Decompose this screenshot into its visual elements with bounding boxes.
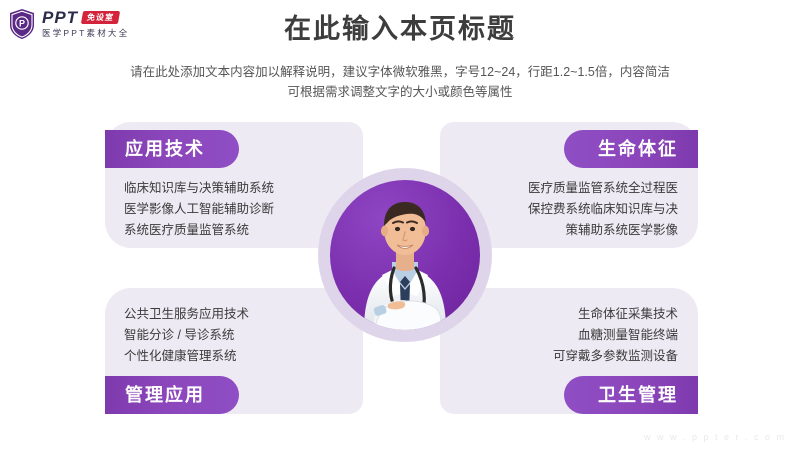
center-image-circle [330, 180, 480, 330]
text-line: 生命体征采集技术 [553, 304, 678, 325]
text-line: 血糖测量智能终端 [553, 325, 678, 346]
text-line: 医疗质量监管系统全过程医 [528, 178, 678, 199]
text-line: 临床知识库与决策辅助系统 [124, 178, 274, 199]
text-line: 可穿戴多参数监测设备 [553, 346, 678, 367]
text-line: 策辅助系统医学影像 [528, 220, 678, 241]
text-line: 医学影像人工智能辅助诊断 [124, 199, 274, 220]
badge-bottom-left[interactable]: 管理应用 [105, 376, 239, 414]
page-title: 在此输入本页标题 [0, 12, 800, 46]
text-line: 系统医疗质量监管系统 [124, 220, 274, 241]
text-bottom-left: 公共卫生服务应用技术 智能分诊 / 导诊系统 个性化健康管理系统 [124, 304, 249, 367]
footer-watermark: w w w . p p t e r . c o m [644, 432, 786, 442]
text-top-right: 医疗质量监管系统全过程医 保控费系统临床知识库与决 策辅助系统医学影像 [528, 178, 678, 241]
text-top-left: 临床知识库与决策辅助系统 医学影像人工智能辅助诊断 系统医疗质量监管系统 [124, 178, 274, 241]
doctor-portrait-icon [330, 180, 480, 330]
badge-bottom-right[interactable]: 卫生管理 [564, 376, 698, 414]
text-line: 保控费系统临床知识库与决 [528, 199, 678, 220]
badge-top-left[interactable]: 应用技术 [105, 130, 239, 168]
subtitle-line-1: 请在此处添加文本内容加以解释说明，建议字体微软雅黑，字号12~24，行距1.2~… [0, 62, 800, 82]
badge-top-right[interactable]: 生命体征 [564, 130, 698, 168]
text-line: 个性化健康管理系统 [124, 346, 249, 367]
text-line: 公共卫生服务应用技术 [124, 304, 249, 325]
page-subtitle: 请在此处添加文本内容加以解释说明，建议字体微软雅黑，字号12~24，行距1.2~… [0, 62, 800, 102]
text-bottom-right: 生命体征采集技术 血糖测量智能终端 可穿戴多参数监测设备 [553, 304, 678, 367]
subtitle-line-2: 可根据需求调整文字的大小或颜色等属性 [0, 82, 800, 102]
text-line: 智能分诊 / 导诊系统 [124, 325, 249, 346]
